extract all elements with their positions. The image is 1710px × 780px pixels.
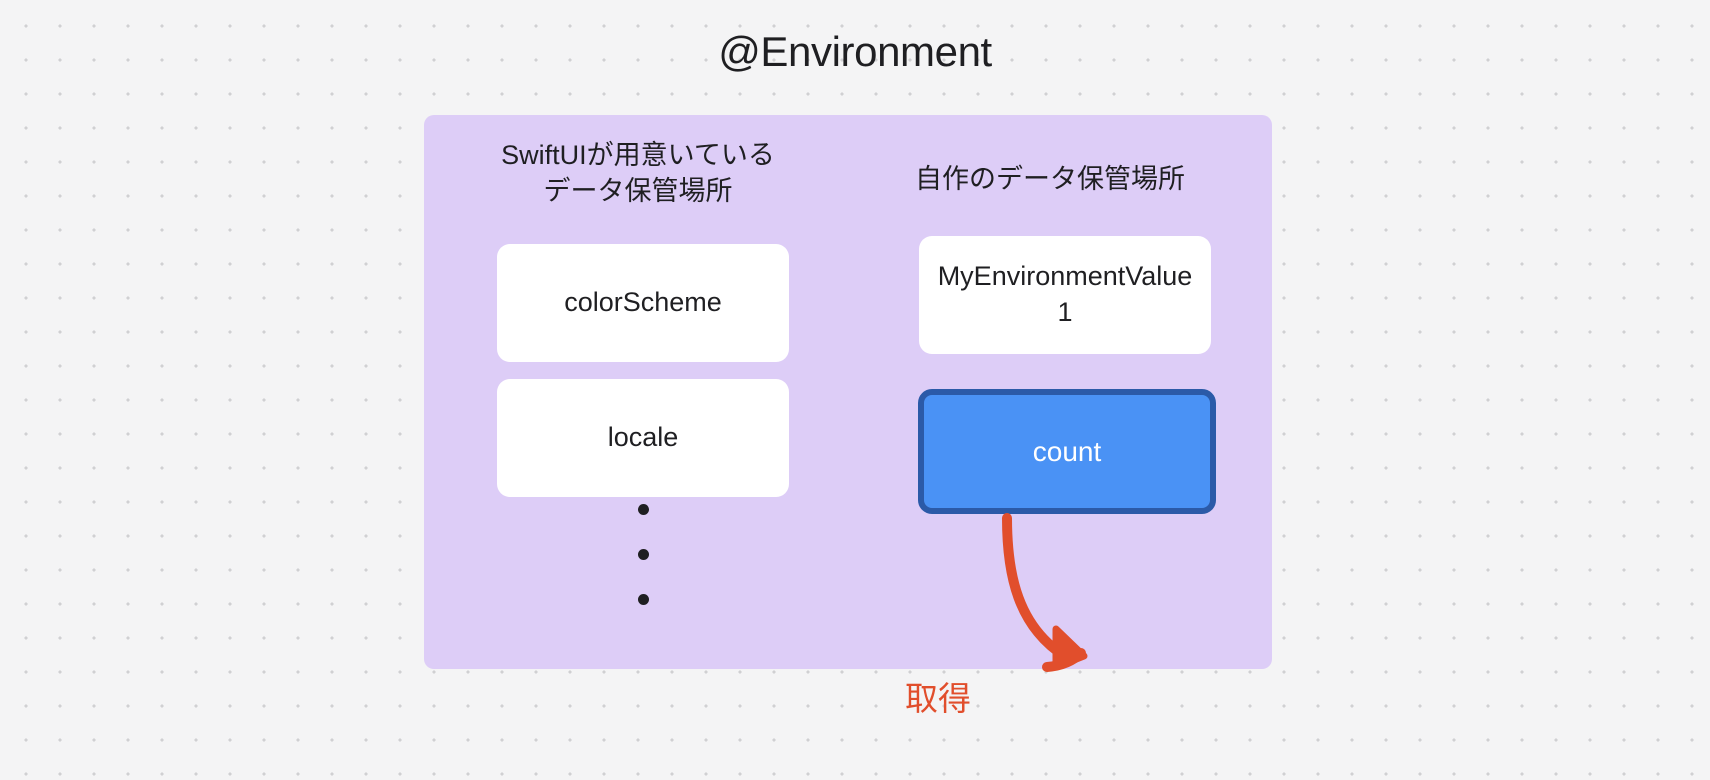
column-header-custom-storage: 自作のデータ保管場所 [880,162,1220,198]
diagram-canvas: @Environment SwiftUIが用意いている データ保管場所 自作のデ… [0,0,1710,780]
page-title: @Environment [0,28,1710,76]
bullet-dot-icon [638,549,649,560]
card-my-environment-value1[interactable]: MyEnvironmentValue1 [919,236,1211,354]
card-color-scheme[interactable]: colorScheme [497,244,789,362]
column-header-swiftui-provided: SwiftUIが用意いている データ保管場所 [478,138,798,209]
bullet-dot-icon [638,504,649,515]
annotation-fetch-label: 取得 [905,672,971,720]
bullet-dot-icon [638,594,649,605]
card-locale[interactable]: locale [497,379,789,497]
curved-arrow-icon [950,515,1150,700]
ellipsis-bullets [631,504,655,605]
card-count-highlighted[interactable]: count [918,389,1216,514]
